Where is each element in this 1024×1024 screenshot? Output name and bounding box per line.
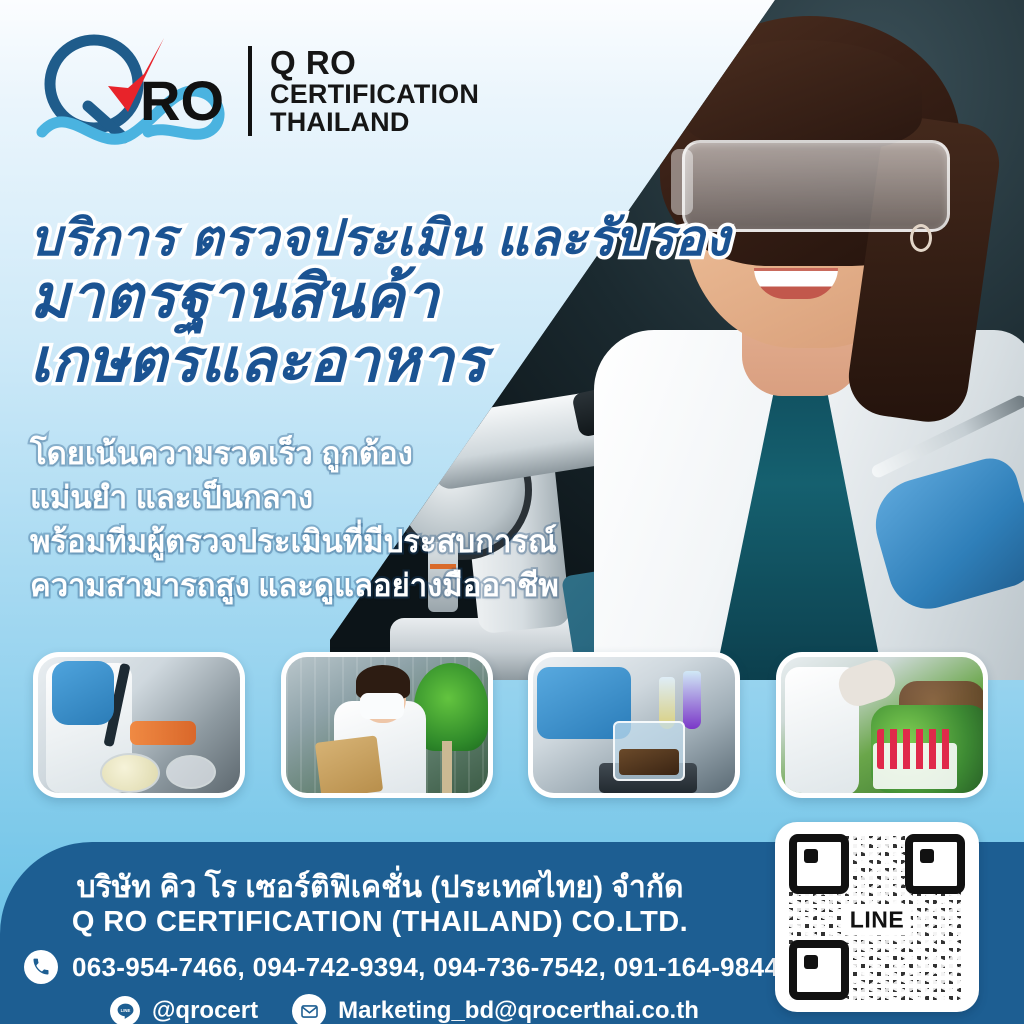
phone-icon (24, 950, 58, 984)
clipboard-icon (315, 735, 383, 793)
thumbnail-image-2 (286, 657, 488, 793)
subheadline-line-2: แม่นยำ และเป็นกลาง (30, 476, 670, 520)
social-row[interactable]: LINE @qrocert Marketing_bd@qrocerthai.co… (110, 994, 750, 1024)
earring-icon (910, 224, 932, 252)
line-id: @qrocert (152, 997, 258, 1024)
headline-line-3: เกษตรและอาหาร (30, 329, 720, 393)
promotional-poster: RO Q RO CERTIFICATION THAILAND บริการ ตร… (0, 0, 1024, 1024)
subheadline-line-4: ความสามารถสูง และดูแลอย่างมืออาชีพ (30, 564, 670, 608)
email-address: Marketing_bd@qrocerthai.co.th (338, 997, 699, 1024)
headline-line-1: บริการ ตรวจประเมิน และรับรอง (30, 212, 720, 265)
line-qr-card[interactable]: LINE (775, 822, 979, 1012)
sample-container (613, 721, 685, 781)
logo-line-1: Q RO (270, 46, 479, 80)
qr-center-label: LINE (843, 905, 911, 936)
thumbnail-card-4[interactable] (776, 652, 988, 798)
thumbnail-strip (0, 652, 1024, 802)
q-ro-logo-svg: RO (36, 28, 232, 154)
company-name-english: Q RO CERTIFICATION (THAILAND) CO.LTD. (0, 906, 760, 939)
qr-finder-top-left (789, 834, 849, 894)
plant-roots (442, 741, 452, 793)
thumbnail-card-1[interactable] (33, 652, 245, 798)
logo-line-2: CERTIFICATION (270, 80, 479, 108)
thumbnail-image-4 (781, 657, 983, 793)
thumbnail-image-1 (38, 657, 240, 793)
subheadline-line-1: โดยเน้นความรวดเร็ว ถูกต้อง (30, 432, 670, 476)
logo-line-3: THAILAND (270, 108, 479, 136)
qr-finder-top-right (905, 834, 965, 894)
q-ro-logo-mark: RO (36, 28, 232, 154)
headline-block: บริการ ตรวจประเมิน และรับรอง มาตรฐานสินค… (30, 212, 720, 392)
line-icon: LINE (110, 996, 140, 1024)
test-tube-purple (683, 671, 701, 729)
hair-fringe (682, 40, 922, 150)
petri-dish-left (100, 753, 160, 793)
qr-finder-bottom-left (789, 940, 849, 1000)
subheadline-block: โดยเน้นความรวดเร็ว ถูกต้อง แม่นยำ และเป็… (30, 432, 670, 608)
thumbnail-image-3 (533, 657, 735, 793)
test-tube-rack (873, 743, 957, 789)
company-name-thai: บริษัท คิว โร เซอร์ติฟิเคชั่น (ประเทศไทย… (0, 864, 760, 911)
pipette-icon (103, 663, 130, 747)
email-icon (292, 994, 326, 1024)
salmon-fillet (130, 721, 196, 745)
petri-dish-right (166, 755, 216, 789)
thumbnail-card-3[interactable] (528, 652, 740, 798)
qr-code-image: LINE (789, 834, 965, 1000)
logo-text-block: Q RO CERTIFICATION THAILAND (248, 46, 479, 136)
subheadline-line-3: พร้อมทีมผู้ตรวจประเมินที่มีประสบการณ์ (30, 520, 670, 564)
phone-numbers: 063-954-7466, 094-742-9394, 094-736-7542… (72, 952, 779, 983)
svg-text:LINE: LINE (120, 1007, 130, 1012)
headline-line-2: มาตรฐานสินค้า (30, 265, 720, 329)
svg-text:RO: RO (140, 69, 224, 132)
brand-logo[interactable]: RO Q RO CERTIFICATION THAILAND (36, 28, 479, 154)
face-mask-icon (360, 693, 404, 719)
phone-row[interactable]: 063-954-7466, 094-742-9394, 094-736-7542… (24, 950, 764, 984)
thumbnail-card-2[interactable] (281, 652, 493, 798)
